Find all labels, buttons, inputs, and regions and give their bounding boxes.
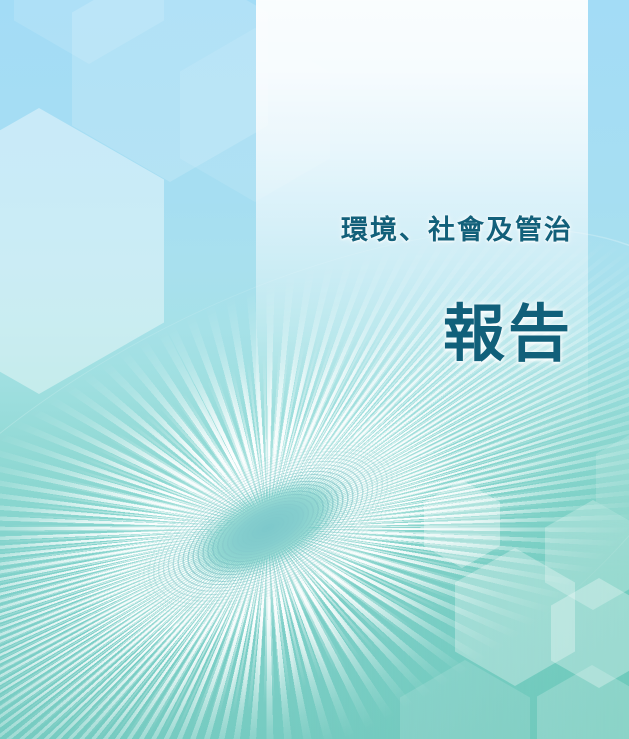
report-cover: 環境、社會及管治 報告 xyxy=(0,0,629,739)
cover-title-block: 環境、社會及管治 報告 xyxy=(0,0,629,739)
cover-title: 報告 xyxy=(443,303,573,365)
cover-subtitle: 環境、社會及管治 xyxy=(341,208,573,247)
